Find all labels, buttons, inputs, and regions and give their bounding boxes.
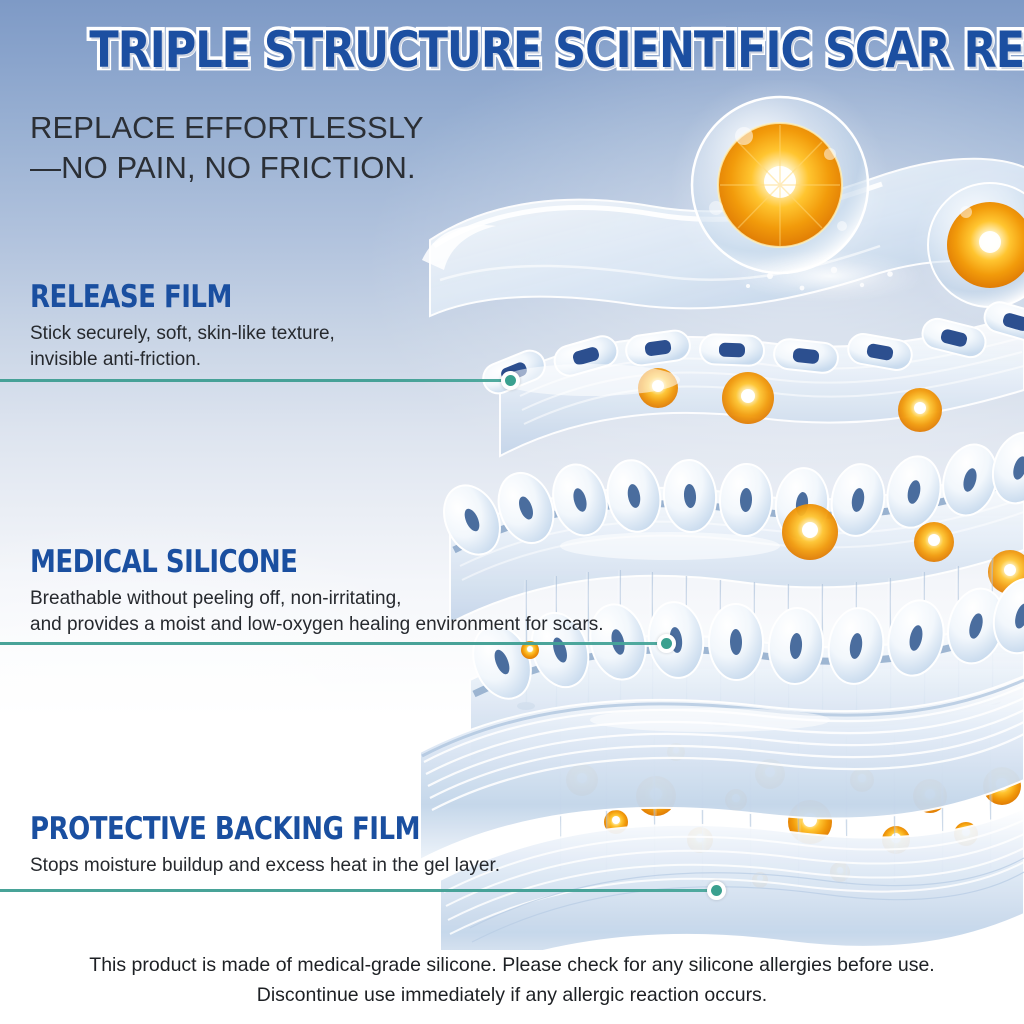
connector-line-protective-backing-film — [0, 889, 718, 892]
connector-line-release-film — [0, 379, 512, 382]
feature-title-release-film: RELEASE FILM — [30, 280, 286, 314]
product-structure-illustration — [410, 80, 1024, 950]
feature-title-medical-silicone: MEDICAL SILICONE — [30, 545, 512, 579]
infographic-page: TRIPLE STRUCTURE SCIENTIFIC SCAR REMOVAL… — [0, 0, 1024, 1024]
layer-release-film — [422, 159, 1024, 316]
capsule-row-top — [479, 299, 1024, 398]
footer-disclaimer: This product is made of medical-grade si… — [0, 950, 1024, 1010]
gel-stalks-lower — [559, 718, 992, 888]
embedded-gold-cells-mid — [638, 368, 1024, 594]
feature-desc-protective-backing-film-line1: Stops moisture buildup and excess heat i… — [30, 853, 500, 879]
connector-line-medical-silicone — [0, 642, 668, 645]
page-title: TRIPLE STRUCTURE SCIENTIFIC SCAR REMOVAL — [89, 22, 1024, 78]
embedded-gold-cells-upper — [722, 372, 942, 432]
footer-line-2: Discontinue use immediately if any aller… — [0, 980, 1024, 1010]
footer-line-1: This product is made of medical-grade si… — [0, 950, 1024, 980]
page-subtitle: REPLACE EFFORTLESSLY —NO PAIN, NO FRICTI… — [30, 108, 500, 188]
feature-medical-silicone: MEDICAL SILICONE Breathable without peel… — [30, 545, 603, 638]
page-title-wrap: TRIPLE STRUCTURE SCIENTIFIC SCAR REMOVAL — [0, 22, 1024, 78]
feature-release-film: RELEASE FILM Stick securely, soft, skin-… — [30, 280, 335, 373]
connector-dot-release-film — [501, 371, 520, 390]
feature-desc-medical-silicone-line2: and provides a moist and low-oxygen heal… — [30, 612, 603, 638]
feature-desc-release-film-line1: Stick securely, soft, skin-like texture, — [30, 321, 335, 347]
connector-dot-medical-silicone — [657, 634, 676, 653]
cell-row-mid — [434, 426, 1024, 563]
layer-medical-silicone-top — [479, 299, 1024, 456]
backing-film-bottom-stack — [440, 808, 1024, 950]
connector-dot-protective-backing-film — [707, 881, 726, 900]
feature-desc-release-film-line2: invisible anti-friction. — [30, 347, 335, 373]
subtitle-line-2: —NO PAIN, NO FRICTION. — [30, 148, 500, 188]
stalk-anchors — [517, 697, 1001, 731]
feature-protective-backing-film: PROTECTIVE BACKING FILM Stops moisture b… — [30, 812, 500, 879]
subtitle-line-1: REPLACE EFFORTLESSLY — [30, 108, 500, 148]
layer-protective-backing-film — [420, 676, 1024, 860]
sparkle-burst — [735, 250, 925, 302]
golden-gel-sphere-primary — [670, 80, 890, 295]
golden-gel-sphere-secondary — [912, 167, 1024, 323]
feature-desc-medical-silicone-line1: Breathable without peeling off, non-irri… — [30, 586, 603, 612]
feature-title-protective-backing-film: PROTECTIVE BACKING FILM — [30, 812, 425, 846]
gold-gel-particles — [521, 641, 1021, 888]
